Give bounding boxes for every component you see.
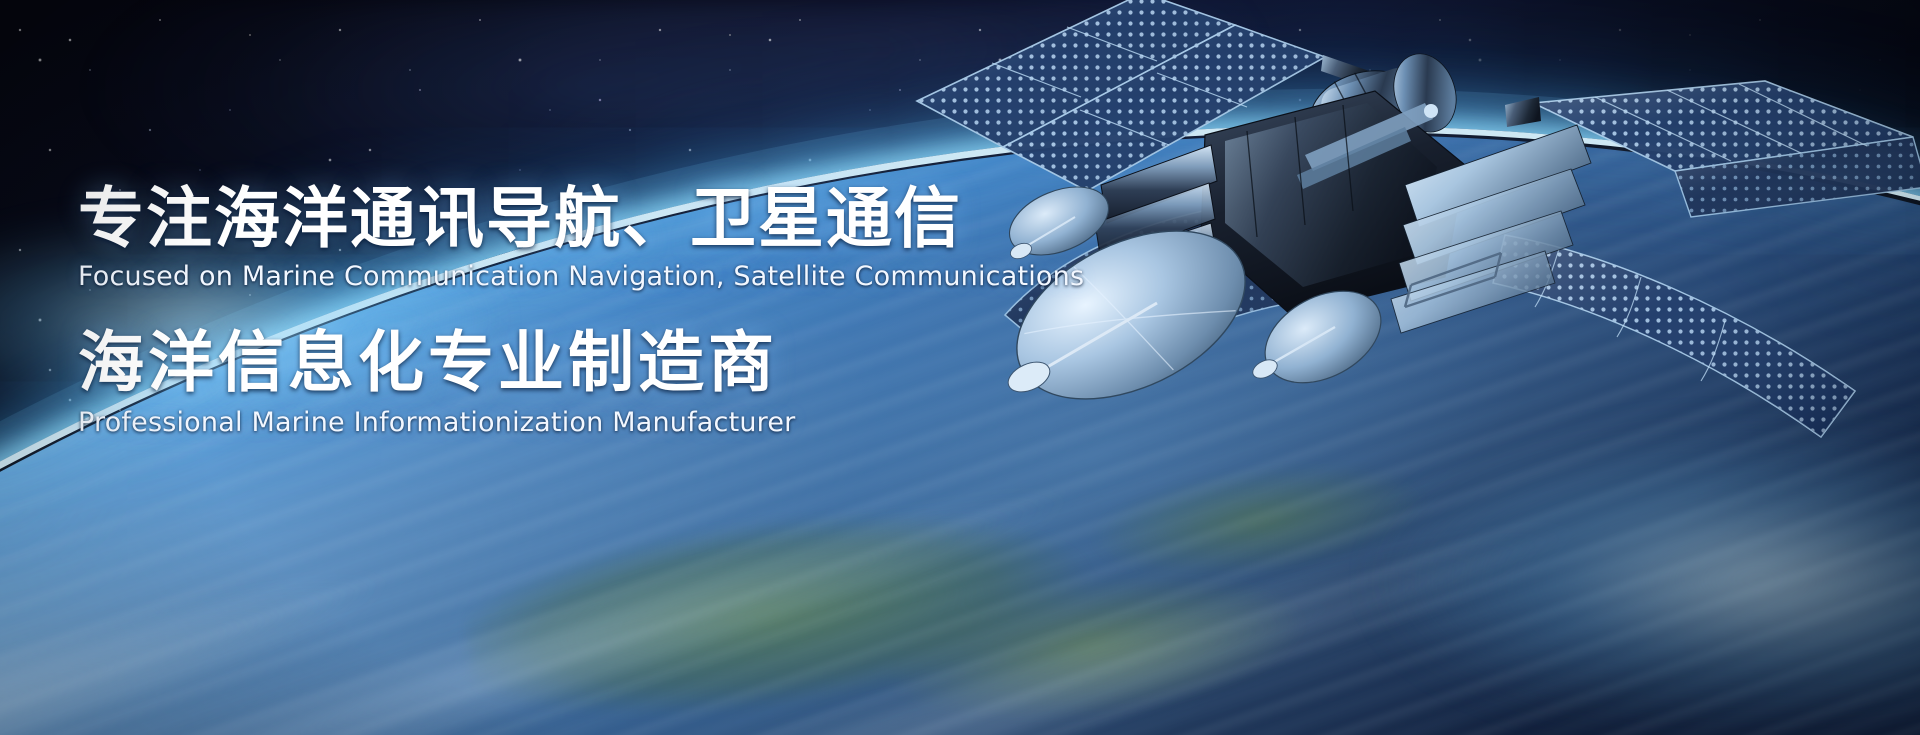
atmosphere-flare-right: [1380, 430, 1920, 730]
secondary-headline-en: Professional Marine Informationization M…: [78, 408, 796, 438]
hero-banner: 专注海洋通讯导航、卫星通信 Focused on Marine Communic…: [0, 0, 1920, 735]
secondary-message-block: 海洋信息化专业制造商 Professional Marine Informati…: [78, 330, 796, 438]
primary-headline-cn: 专注海洋通讯导航、卫星通信: [78, 186, 1084, 252]
primary-message-block: 专注海洋通讯导航、卫星通信 Focused on Marine Communic…: [78, 186, 1084, 292]
primary-headline-en: Focused on Marine Communication Navigati…: [78, 262, 1084, 292]
secondary-headline-cn: 海洋信息化专业制造商: [78, 330, 796, 396]
